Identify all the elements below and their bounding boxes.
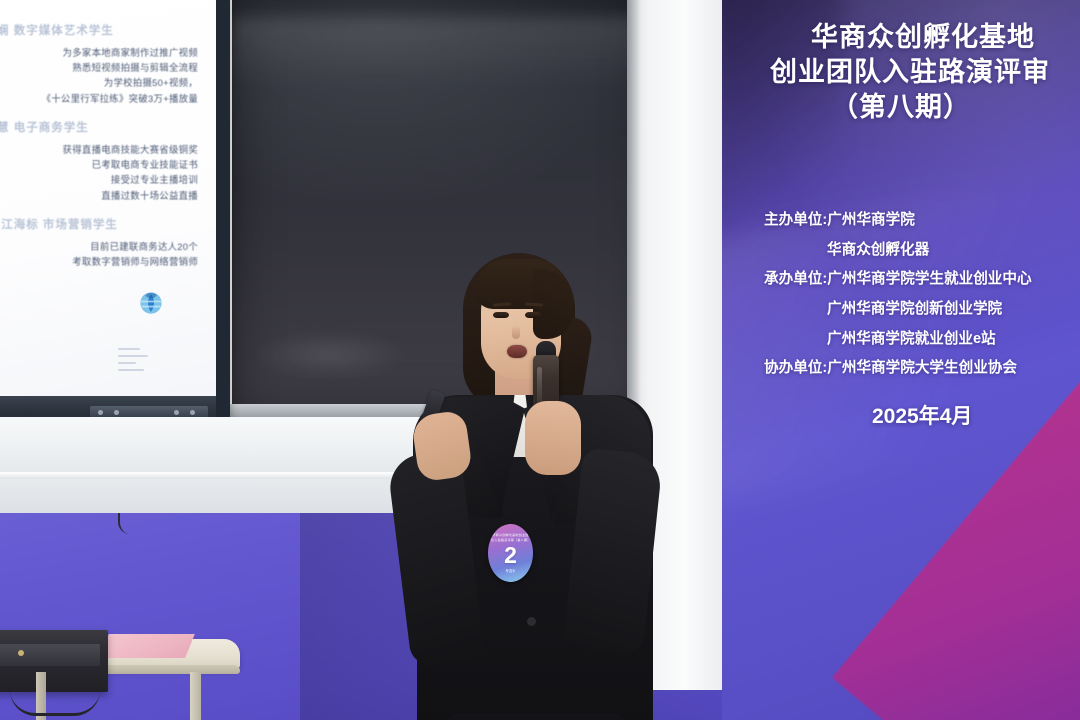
banner-title-line-2: 创业团队入驻路演评审 [740,55,1080,90]
slide-bullet: 熟悉短视频拍摄与剪辑全流程 [0,60,206,75]
presentation-slide: 颜佳娴 数字媒体艺术学生 为多家本地商家制作过推广视频 熟悉短视频拍摄与剪辑全流… [0,0,216,396]
eye [493,312,509,318]
trousers [447,713,623,720]
slide-bullet: 获得直播电商技能大赛省级铜奖 [0,142,206,157]
slide-heading-1: 颜佳娴 数字媒体艺术学生 [0,22,206,38]
organizer-row: 广州华商学院创新创业学院 [722,295,1080,325]
banner-title-line-1: 华商众创孵化基地 [766,20,1080,55]
podium-slot [0,644,100,666]
slide-bullet: 为学校拍摄50+视频， [0,75,206,90]
speaker: 华商众创孵化基地创业团队入驻路演评审（第八期） 2 号选手 [395,245,695,720]
event-backdrop-banner: 华商众创孵化基地 创业团队入驻路演评审 （第八期） 主办单位:广州华商学院 华商… [722,0,1080,720]
slide-bullet: 直播过数十场公益直播 [0,188,206,203]
nose [512,325,520,339]
eye [525,312,541,318]
organizer-row: 协办单位:广州华商学院大学生创业协会 [722,354,1080,384]
organizer-row: 承办单位:广州华商学院学生就业创业中心 [722,265,1080,295]
banner-title: 华商众创孵化基地 创业团队入驻路演评审 （第八期） [722,20,1080,125]
organizer-row: 主办单位:广州华商学院 [722,206,1080,236]
slide-bullet: 《十公里行军拉练》突破3万+播放量 [0,91,206,106]
podium-indicator [18,650,24,656]
organizer-row: 华商众创孵化器 [722,236,1080,266]
hand-left [411,410,474,483]
desk-leg [190,672,201,720]
slide-bullet: 为多家本地商家制作过推广视频 [0,45,206,60]
slide-heading-3: 陈曦 江海标 市场营销学生 [0,216,206,232]
hand-right [525,401,581,475]
slide-heading-2: 林庄慧 电子商务学生 [0,119,206,135]
banner-title-line-3: （第八期） [722,90,1080,125]
blackboard-glare-secondary [250,330,410,380]
jacket-button [527,617,536,626]
slide-bullet: 目前已建联商务达人20个 [0,239,206,254]
banner-organizers: 主办单位:广州华商学院 华商众创孵化器 承办单位:广州华商学院学生就业创业中心 … [722,206,1080,384]
desk-cable [10,690,100,716]
slide-decoration [118,348,154,378]
contestant-badge: 华商众创孵化基地创业团队入驻路演评审（第八期） 2 号选手 [488,524,533,582]
badge-event-text: 华商众创孵化基地创业团队入驻路演评审（第八期） [488,533,533,542]
pink-document[interactable] [99,634,195,658]
badge-number: 2 [504,544,517,567]
display-screen[interactable]: 颜佳娴 数字媒体艺术学生 为多家本地商家制作过推广视频 熟悉短视频拍摄与剪辑全流… [0,0,216,396]
presentation-photo: 颜佳娴 数字媒体艺术学生 为多家本地商家制作过推广视频 熟悉短视频拍摄与剪辑全流… [0,0,1080,720]
slide-bullet: 已考取电商专业技能证书 [0,157,206,172]
slide-bullet: 接受过专业主播培训 [0,172,206,187]
organizer-row: 广州华商学院就业创业e站 [722,325,1080,355]
badge-sub-text: 号选手 [505,568,515,573]
globe-icon [138,290,164,316]
blackboard-glare [232,18,652,88]
mouth [507,345,527,358]
slide-bullet: 考取数字营销师与网络营销师 [0,254,206,269]
